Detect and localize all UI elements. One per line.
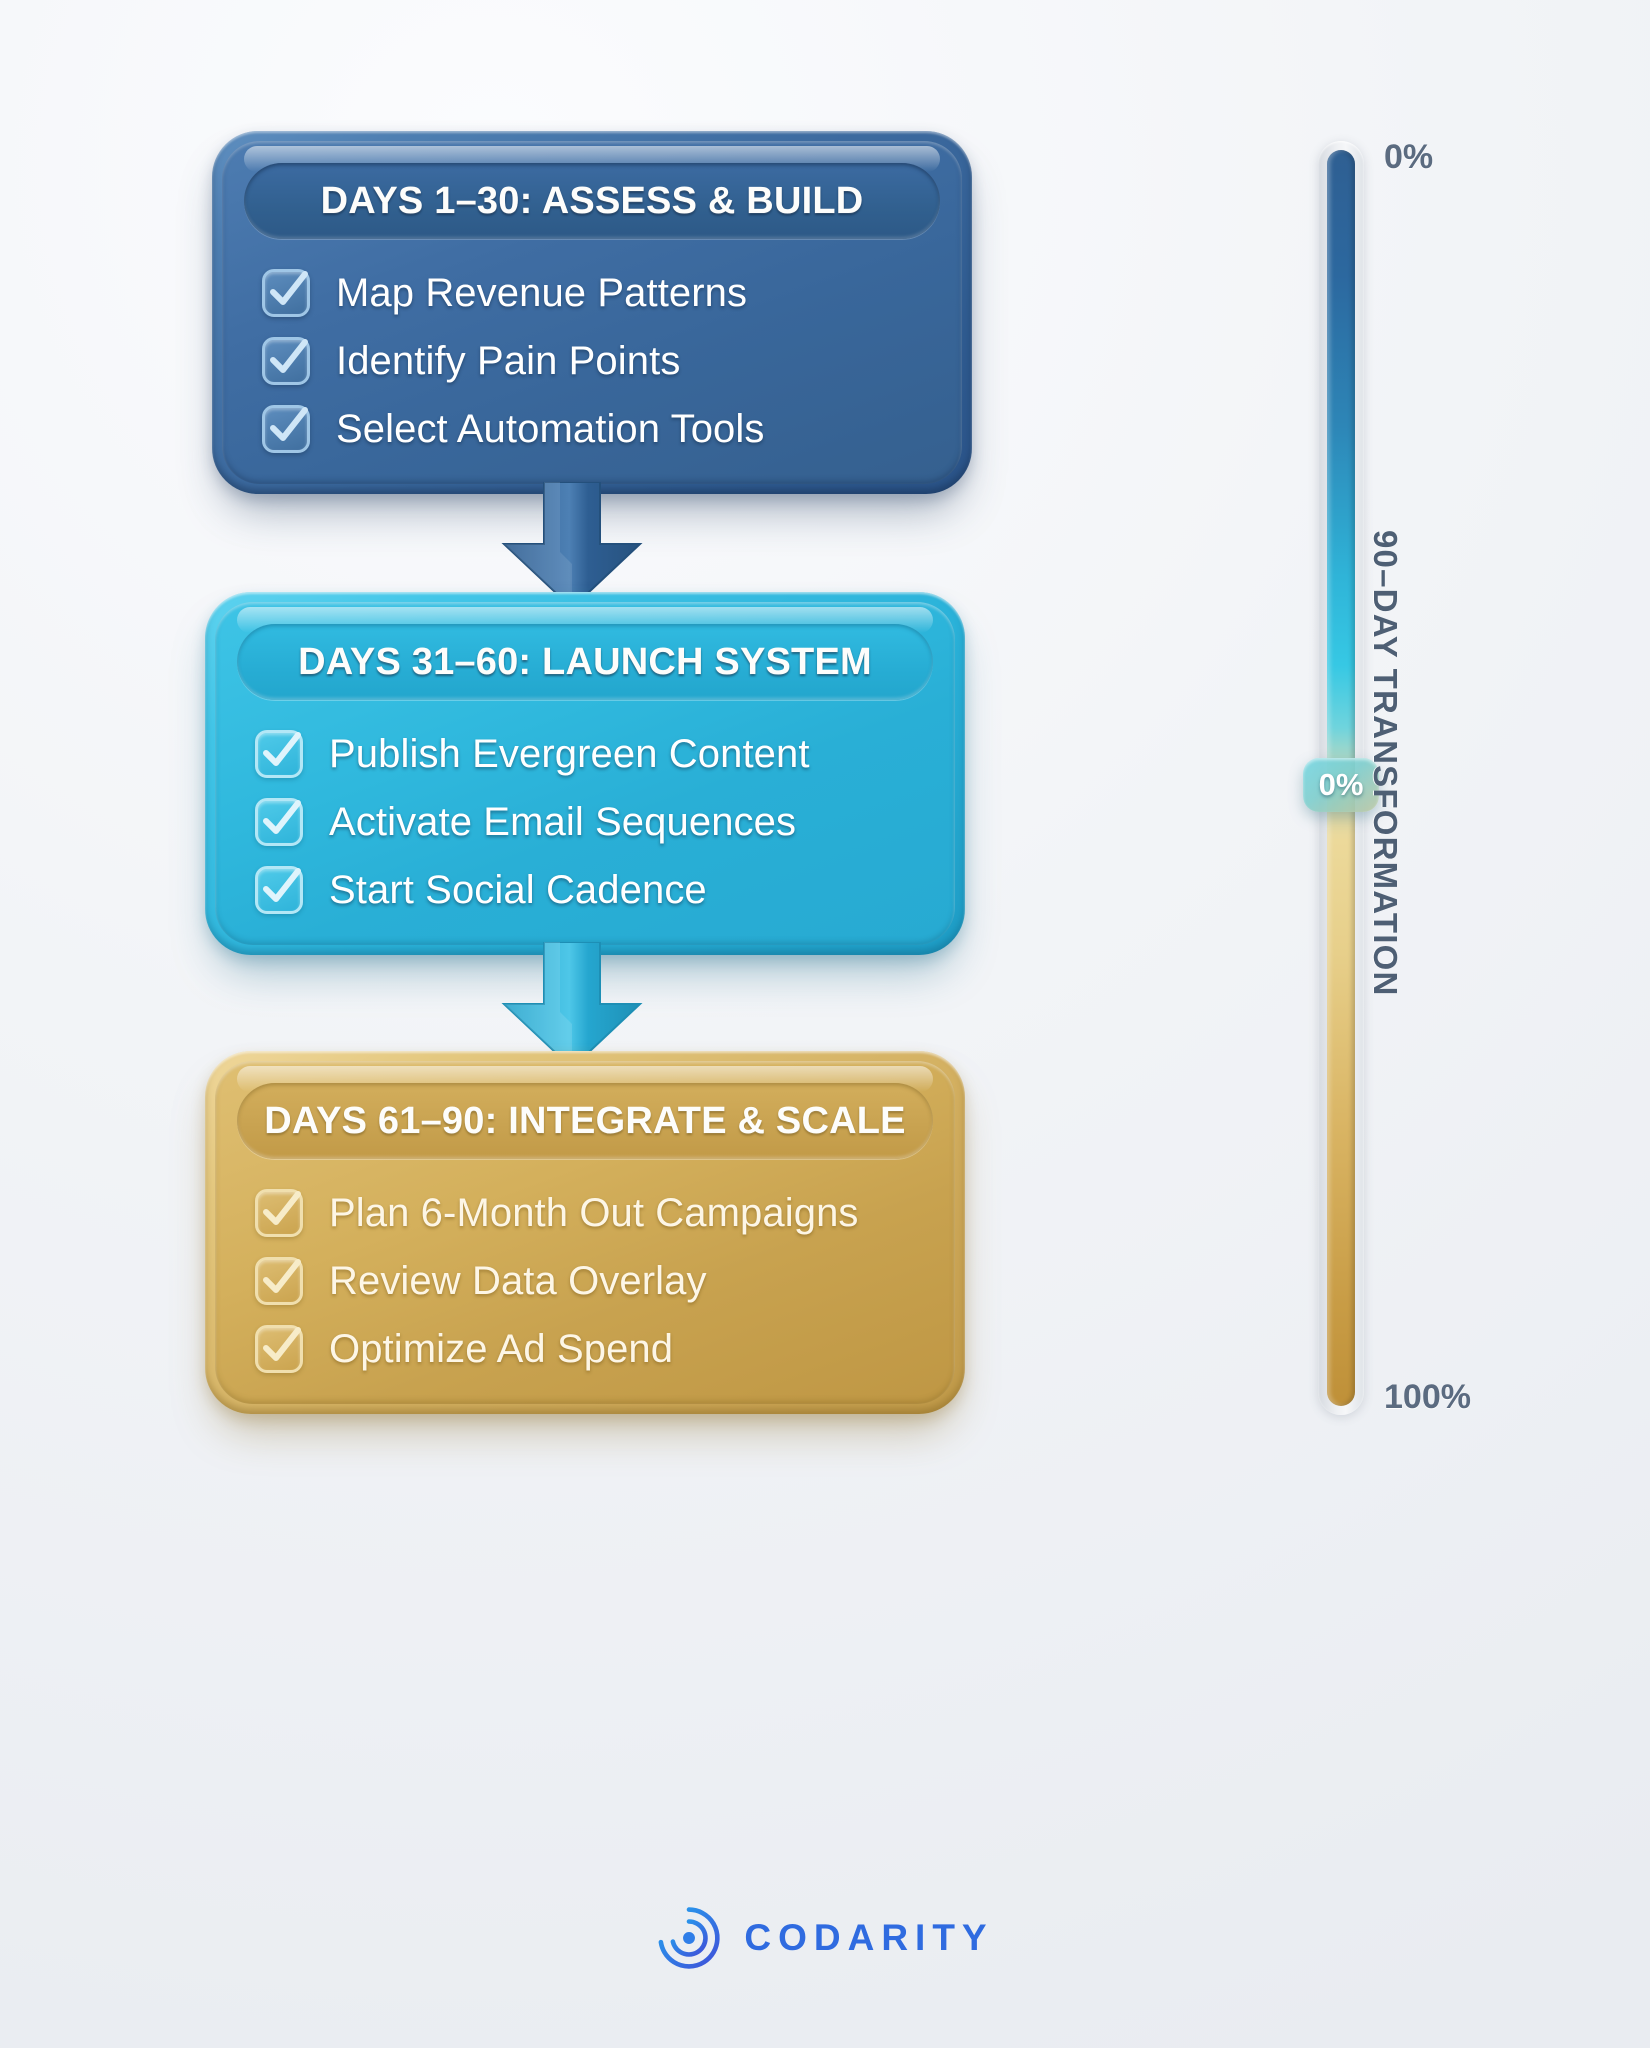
list-item: Plan 6-Month Out Campaigns (255, 1179, 929, 1247)
checkbox-checked-icon (255, 866, 303, 914)
brand-logo[interactable]: CODARITY (0, 1905, 1650, 1971)
phase-title: DAYS 61–90: INTEGRATE & SCALE (264, 1100, 905, 1143)
list-item-label: Plan 6-Month Out Campaigns (329, 1191, 859, 1236)
phase-card-inner: DAYS 1–30: ASSESS & BUILD Map Revenue Pa… (222, 141, 962, 484)
progress-marker-value: 0% (1319, 767, 1364, 803)
list-item: Activate Email Sequences (255, 788, 929, 856)
list-item: Publish Evergreen Content (255, 720, 929, 788)
checkbox-checked-icon (262, 337, 310, 385)
list-item: Review Data Overlay (255, 1247, 929, 1315)
checklist: Map Revenue Patterns Identify Pain Point… (262, 259, 936, 463)
phase-card-days-1-30: DAYS 1–30: ASSESS & BUILD Map Revenue Pa… (212, 131, 972, 494)
phase-card-inner: DAYS 31–60: LAUNCH SYSTEM Publish Evergr… (215, 602, 955, 945)
checklist: Plan 6-Month Out Campaigns Review Data O… (255, 1179, 929, 1383)
phase-title: DAYS 1–30: ASSESS & BUILD (321, 180, 864, 223)
list-item: Start Social Cadence (255, 856, 929, 924)
list-item-label: Identify Pain Points (336, 339, 680, 384)
phase-title: DAYS 31–60: LAUNCH SYSTEM (298, 641, 872, 684)
checkbox-checked-icon (255, 730, 303, 778)
flow-arrow-down-blue (492, 482, 652, 610)
list-item-label: Select Automation Tools (336, 407, 765, 452)
phase-card-days-31-60: DAYS 31–60: LAUNCH SYSTEM Publish Evergr… (205, 592, 965, 955)
list-item-label: Start Social Cadence (329, 868, 707, 913)
infographic-canvas: DAYS 1–30: ASSESS & BUILD Map Revenue Pa… (0, 0, 1650, 2048)
list-item-label: Activate Email Sequences (329, 800, 796, 845)
list-item-label: Publish Evergreen Content (329, 732, 810, 777)
list-item-label: Review Data Overlay (329, 1259, 707, 1304)
phase-title-pill: DAYS 1–30: ASSESS & BUILD (244, 163, 940, 239)
phase-title-pill: DAYS 31–60: LAUNCH SYSTEM (237, 624, 933, 700)
progress-axis-label: 90–DAY TRANSFORMATION (1366, 530, 1404, 1170)
checkbox-checked-icon (262, 269, 310, 317)
target-radar-icon (656, 1905, 722, 1971)
phase-card-days-61-90: DAYS 61–90: INTEGRATE & SCALE Plan 6-Mon… (205, 1051, 965, 1414)
checkbox-checked-icon (255, 1325, 303, 1373)
list-item-label: Map Revenue Patterns (336, 271, 747, 316)
list-item: Identify Pain Points (262, 327, 936, 395)
checklist: Publish Evergreen Content Activate Email… (255, 720, 929, 924)
progress-label-end: 100% (1384, 1378, 1471, 1417)
checkbox-checked-icon (255, 1189, 303, 1237)
brand-wordmark: CODARITY (744, 1917, 993, 1959)
list-item: Optimize Ad Spend (255, 1315, 929, 1383)
phase-card-inner: DAYS 61–90: INTEGRATE & SCALE Plan 6-Mon… (215, 1061, 955, 1404)
progress-label-start: 0% (1384, 138, 1433, 177)
phase-title-pill: DAYS 61–90: INTEGRATE & SCALE (237, 1083, 933, 1159)
list-item-label: Optimize Ad Spend (329, 1327, 673, 1372)
list-item: Select Automation Tools (262, 395, 936, 463)
checkbox-checked-icon (262, 405, 310, 453)
checkbox-checked-icon (255, 798, 303, 846)
checkbox-checked-icon (255, 1257, 303, 1305)
list-item: Map Revenue Patterns (262, 259, 936, 327)
